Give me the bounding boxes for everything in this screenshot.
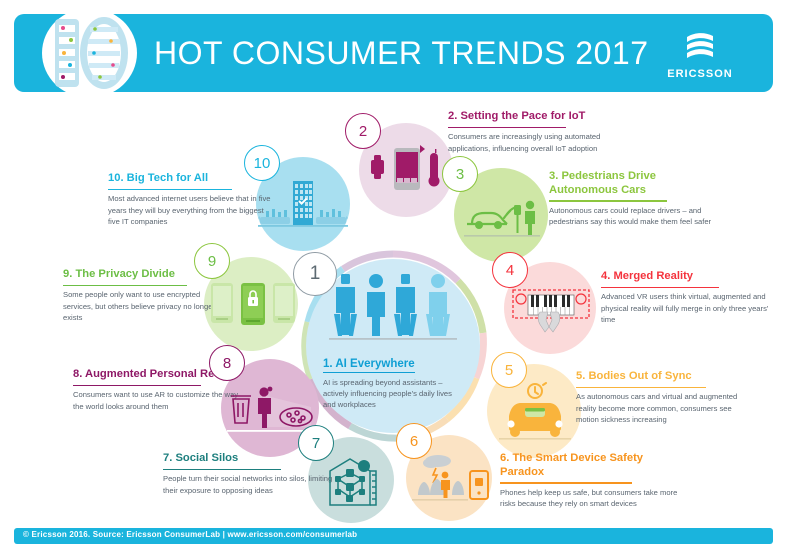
page-title: HOT CONSUMER TRENDS 2017: [154, 35, 648, 72]
trend-body: Autonomous cars could replace drivers – …: [549, 205, 717, 227]
title-rule: [601, 287, 719, 289]
text-block-pedestrians-drive-autonomous-cars: 3. Pedestrians Drive Autonomous Cars Aut…: [549, 170, 717, 227]
title-rule: [163, 469, 281, 471]
infographic-page: HOT CONSUMER TRENDS 2017 ERICSSON: [0, 0, 787, 554]
silo-network-icon: [324, 453, 382, 516]
trend-title: 6. The Smart Device Safety Paradox: [500, 452, 680, 481]
car-motion-sickness-icon: [499, 382, 571, 449]
car-pedestrian-icon: [464, 188, 540, 249]
node-number: 3: [442, 156, 478, 192]
trend-title: 3. Pedestrians Drive Autonomous Cars: [549, 170, 717, 199]
node-number: 10: [244, 145, 280, 181]
node-number: 5: [491, 352, 527, 388]
node-number: 4: [492, 252, 528, 288]
text-block-smart-device-safety-paradox: 6. The Smart Device Safety Paradox Phone…: [500, 452, 680, 509]
brand-name: ERICSSON: [667, 68, 732, 80]
trend-body: Phones help keep us safe, but consumers …: [500, 487, 680, 509]
title-rule: [448, 127, 566, 129]
trend-body: Advanced VR users think virtual, augment…: [601, 291, 773, 325]
text-block-merged-reality: 4. Merged Reality Advanced VR users thin…: [601, 270, 773, 325]
hub-title: 1. AI Everywhere: [323, 358, 415, 373]
title-rule: [549, 200, 667, 202]
center-node-ai-everywhere[interactable]: 1: [297, 250, 489, 442]
title-rule: [576, 387, 706, 389]
trend-body: People turn their social networks into s…: [163, 473, 333, 495]
node-number: 2: [345, 113, 381, 149]
trend-title: 4. Merged Reality: [601, 270, 773, 286]
hub-body: AI is spreading beyond assistants – acti…: [323, 377, 463, 410]
hub-number: 1: [293, 252, 337, 296]
node-number: 7: [298, 425, 334, 461]
node-number: 8: [209, 345, 245, 381]
title-rule: [73, 385, 201, 387]
ericsson-logo: ERICSSON: [645, 28, 755, 82]
trend-body: Some people only want to use encrypted s…: [63, 289, 231, 323]
node-number: 9: [194, 243, 230, 279]
ten-badge-icon: [42, 8, 137, 98]
node-merged-reality[interactable]: 4: [490, 252, 598, 354]
title-rule: [108, 189, 232, 191]
header-banner: HOT CONSUMER TRENDS 2017 ERICSSON: [14, 14, 773, 92]
trend-title: 5. Bodies Out of Sync: [576, 370, 748, 386]
smartphone-watch-thermostat-icon: [369, 145, 445, 200]
node-number: 6: [396, 423, 432, 459]
text-block-setting-the-pace-for-iot: 2. Setting the Pace for IoT Consumers ar…: [448, 110, 618, 154]
trend-body: Consumers are increasingly using automat…: [448, 131, 618, 153]
node-pedestrians-drive-autonomous-cars[interactable]: 3: [438, 156, 550, 262]
trend-body: As autonomous cars and virtual and augme…: [576, 391, 748, 425]
office-building-icon: [258, 179, 348, 240]
hub-text-block: 1. AI Everywhere AI is spreading beyond …: [323, 354, 463, 410]
trend-body: Consumers want to use AR to customize th…: [73, 389, 243, 411]
footer-bar: © Ericsson 2016. Source: Ericsson Consum…: [14, 528, 773, 544]
title-rule: [63, 285, 187, 287]
footer-text: © Ericsson 2016. Source: Ericsson Consum…: [23, 530, 357, 539]
trend-title: 2. Setting the Pace for IoT: [448, 110, 618, 126]
people-group-icon: [325, 274, 461, 357]
node-smart-device-safety-paradox[interactable]: 6: [396, 423, 498, 521]
phones-lock-icon: [210, 281, 296, 336]
vr-piano-hands-icon: [512, 286, 590, 341]
trend-body: Most advanced internet users believe tha…: [108, 193, 276, 227]
title-rule: [500, 482, 632, 484]
text-block-big-tech-for-all: 10. Big Tech for All Most advanced inter…: [108, 172, 276, 227]
storm-phone-safety-icon: [412, 453, 490, 510]
text-block-bodies-out-of-sync: 5. Bodies Out of Sync As autonomous cars…: [576, 370, 748, 425]
